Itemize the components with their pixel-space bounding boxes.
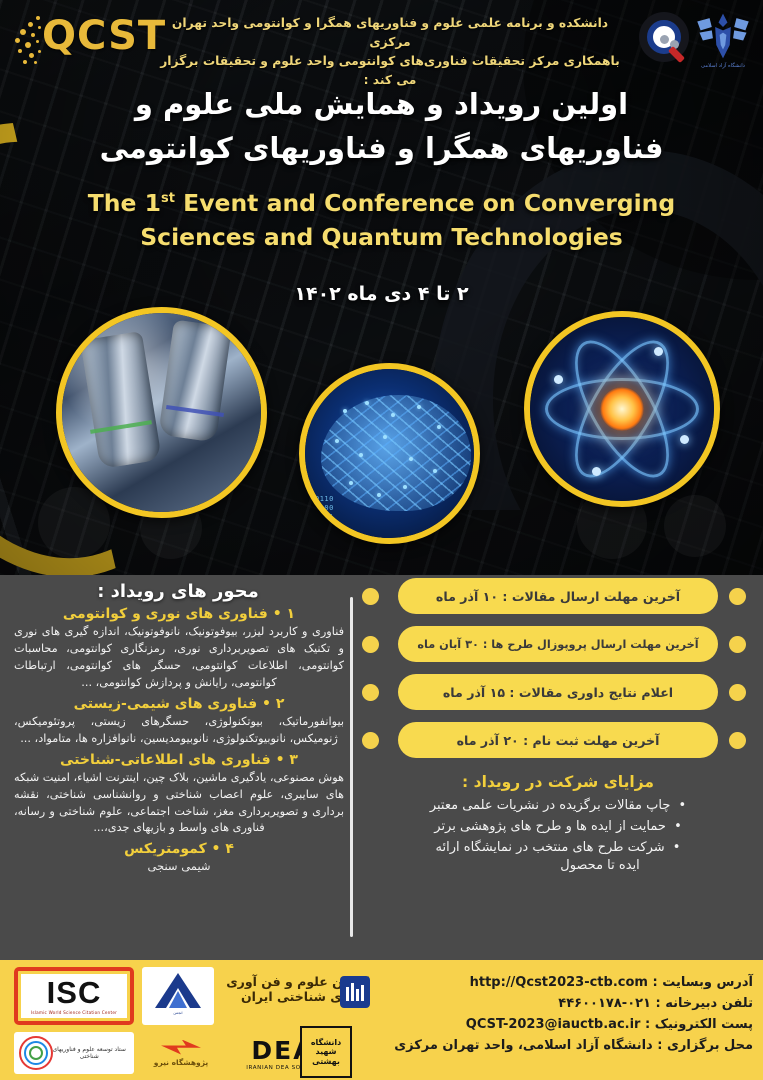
organizer-line-1: دانشکده و برنامه علمی علوم و فناوریهای ه… bbox=[150, 14, 630, 52]
electron bbox=[654, 347, 663, 356]
sponsor-niroo-logo: پژوهشگاه نیرو bbox=[142, 1030, 220, 1076]
benefit-text: چاپ مقالات برگزیده در نشریات علمی معتبر bbox=[430, 798, 671, 813]
english-title-line-2: Sciences and Quantum Technologies bbox=[0, 220, 763, 254]
lightning-bolt-icon bbox=[161, 1040, 201, 1055]
bullet-icon: • bbox=[673, 840, 681, 855]
topic-bullet: • bbox=[276, 752, 285, 768]
topic-number: ۳ bbox=[289, 752, 298, 768]
venue-value: دانشگاه آزاد اسلامی، واحد تهران مرکزی bbox=[394, 1038, 653, 1053]
topics-column: محور های رویداد : ۱ • فناوری های نوری و … bbox=[8, 575, 348, 877]
atom-image bbox=[524, 311, 720, 507]
deadline-dot bbox=[362, 732, 379, 749]
benefit-item: • شرکت طرح های منتخب در نمایشگاه ارائه bbox=[358, 837, 758, 858]
atom-nucleus bbox=[600, 387, 644, 431]
english-title-prefix: The 1 bbox=[88, 189, 161, 217]
azad-university-logo: دانشگاه آزاد اسلامی bbox=[695, 10, 751, 76]
column-divider bbox=[350, 597, 353, 937]
circuit-brain-image: 0110010010011001 bbox=[299, 363, 480, 544]
triangle-icon bbox=[153, 971, 203, 1011]
bullet-icon: • bbox=[674, 819, 682, 834]
electron bbox=[680, 435, 689, 444]
phone-value: ۰۲۱-۴۴۶۰۰۱۷۸ bbox=[558, 996, 651, 1011]
benefit-text: حمایت از ایده ها و طرح های پژوهشی برتر bbox=[434, 819, 666, 834]
topic-title: ۴ • کمومتریکس bbox=[14, 841, 344, 857]
topic-item: ۲ • فناوری های شیمی-زیستی بیوانفورماتیک،… bbox=[14, 696, 344, 748]
email-label: پست الکترونیک : bbox=[645, 1017, 753, 1032]
topic-item: ۳ • فناوری های اطلاعاتی-شناختی هوش مصنوع… bbox=[14, 752, 344, 838]
topic-number: ۴ bbox=[225, 841, 234, 857]
topic-body: فناوری و کاربرد لیزر، بیوفوتونیک، نانوفو… bbox=[14, 624, 344, 692]
event-date: ۲ تا ۴ دی ماه ۱۴۰۲ bbox=[0, 283, 763, 305]
gear-icon bbox=[670, 40, 679, 49]
niroo-caption: پژوهشگاه نیرو bbox=[154, 1058, 208, 1067]
topic-label: فناوری های شیمی-زیستی bbox=[74, 696, 258, 712]
contact-venue-row: محل برگزاری : دانشگاه آزاد اسلامی، واحد … bbox=[353, 1035, 753, 1056]
ghost-circle bbox=[664, 495, 726, 557]
venue-label: محل برگزاری : bbox=[657, 1038, 753, 1053]
benefit-text: شرکت طرح های منتخب در نمایشگاه ارائه bbox=[436, 840, 665, 855]
topic-bullet: • bbox=[273, 606, 282, 622]
deadline-pill[interactable]: آخرین مهلت ارسال مقالات : ۱۰ آذر ماه bbox=[398, 578, 718, 614]
persian-title-line-2: فناوریهای همگرا و فناوریهای کوانتومی bbox=[0, 126, 763, 170]
topic-body: شیمی سنجی bbox=[14, 859, 344, 873]
sponsor-triangle-logo: انجمن bbox=[142, 967, 214, 1025]
website-label: آدرس وبسایت : bbox=[652, 975, 753, 990]
english-title: The 1st Event and Conference on Convergi… bbox=[0, 186, 763, 254]
isc-caption: Islamic World Science Citation Center bbox=[31, 1010, 117, 1015]
atom-photo bbox=[530, 317, 714, 501]
contact-website-row: آدرس وبسایت : http://Qcst2023-ctb.com bbox=[353, 972, 753, 993]
topic-item: ۱ • فناوری های نوری و کوانتومی فناوری و … bbox=[14, 606, 344, 692]
deadline-dot bbox=[362, 588, 379, 605]
microscope-photo bbox=[62, 313, 261, 512]
topic-title: ۱ • فناوری های نوری و کوانتومی bbox=[14, 606, 344, 622]
q-ring-icon bbox=[647, 20, 681, 54]
deadline-dot bbox=[729, 588, 746, 605]
topic-label: کمومتریکس bbox=[124, 841, 207, 857]
cognitive-hq-caption: ستاد توسعه علوم و فناوریهای شناختی bbox=[49, 1046, 129, 1061]
topic-body: بیوانفورماتیک، بیوتکنولوژی، حسگرهای زیست… bbox=[14, 714, 344, 748]
objective-lens bbox=[158, 320, 232, 443]
qcst-logo-text: QCST bbox=[42, 16, 166, 56]
deadline-pill[interactable]: آخرین مهلت ثبت نام : ۲۰ آذر ماه bbox=[398, 722, 718, 758]
persian-title: اولین رویداد و همایش ملی علوم و فناوریها… bbox=[0, 82, 763, 170]
sponsor-sbu-logo: دانشگاه شهید بهشتی bbox=[300, 1026, 352, 1078]
deadline-dot bbox=[729, 732, 746, 749]
deadline-dot bbox=[362, 636, 379, 653]
quantum-research-center-logo bbox=[639, 12, 689, 62]
microscope-image bbox=[56, 307, 267, 518]
ordinal-suffix: st bbox=[161, 191, 175, 206]
phone-label: تلفن دبیرخانه : bbox=[656, 996, 753, 1011]
content-section: محور های رویداد : ۱ • فناوری های نوری و … bbox=[0, 575, 763, 960]
topic-body: هوش مصنوعی، یادگیری ماشین، بلاک چین، این… bbox=[14, 770, 344, 838]
benefit-item: • حمایت از ایده ها و طرح های پژوهشی برتر bbox=[358, 816, 758, 837]
deadlines-column: آخرین مهلت ارسال مقالات : ۱۰ آذر ماه آخر… bbox=[358, 575, 758, 873]
bullet-icon: • bbox=[679, 798, 687, 813]
gear-icon bbox=[660, 35, 669, 44]
rings-icon bbox=[19, 1036, 49, 1070]
footer-bar: ISC Islamic World Science Citation Cente… bbox=[0, 960, 763, 1080]
sponsor-isc-logo: ISC Islamic World Science Citation Cente… bbox=[14, 967, 134, 1025]
deadline-dot bbox=[729, 636, 746, 653]
deadline-row: آخرین مهلت ثبت نام : ۲۰ آذر ماه bbox=[358, 719, 758, 761]
benefit-item: • چاپ مقالات برگزیده در نشریات علمی معتب… bbox=[358, 795, 758, 816]
topic-number: ۲ bbox=[276, 696, 285, 712]
contact-info: آدرس وبسایت : http://Qcst2023-ctb.com تل… bbox=[353, 972, 753, 1056]
benefits-heading: مزایای شرکت در رویداد : bbox=[358, 773, 758, 791]
deadline-row: آخرین مهلت ارسال پروپوزال طرح ها : ۳۰ آب… bbox=[358, 623, 758, 665]
topic-title: ۲ • فناوری های شیمی-زیستی bbox=[14, 696, 344, 712]
website-value[interactable]: http://Qcst2023-ctb.com bbox=[470, 975, 648, 990]
topic-label: فناوری های اطلاعاتی-شناختی bbox=[60, 752, 271, 768]
deadline-dot bbox=[729, 684, 746, 701]
top-bar: QCST دانشکده و برنامه علمی علوم و فناوری… bbox=[0, 0, 763, 88]
sponsor-cognitive-hq-logo: ستاد توسعه علوم و فناوریهای شناختی bbox=[14, 1032, 134, 1074]
qcst-logo: QCST bbox=[14, 10, 144, 72]
deadline-dot bbox=[362, 684, 379, 701]
topic-bullet: • bbox=[262, 696, 271, 712]
deadline-row: آخرین مهلت ارسال مقالات : ۱۰ آذر ماه bbox=[358, 575, 758, 617]
azad-logo-caption: دانشگاه آزاد اسلامی bbox=[695, 63, 751, 69]
topic-bullet: • bbox=[212, 841, 221, 857]
contact-phone-row: تلفن دبیرخانه : ۰۲۱-۴۴۶۰۰۱۷۸ bbox=[353, 993, 753, 1014]
binary-code-text: 0110010010011001 bbox=[315, 495, 334, 530]
english-title-line-1: The 1st Event and Conference on Convergi… bbox=[0, 186, 763, 220]
topic-title: ۳ • فناوری های اطلاعاتی-شناختی bbox=[14, 752, 344, 768]
deadline-row: اعلام نتایج داوری مقالات : ۱۵ آذر ماه bbox=[358, 671, 758, 713]
triangle-logo-caption: انجمن bbox=[173, 1011, 182, 1015]
organizer-text: دانشکده و برنامه علمی علوم و فناوریهای ه… bbox=[150, 14, 630, 90]
email-value[interactable]: QCST-2023@iauctb.ac.ir bbox=[466, 1017, 641, 1032]
azad-wings-icon bbox=[695, 10, 751, 62]
electron bbox=[592, 467, 601, 476]
electron bbox=[554, 375, 563, 384]
topic-label: فناوری های نوری و کوانتومی bbox=[63, 606, 268, 622]
objective-lens bbox=[80, 331, 162, 469]
deadline-pill[interactable]: اعلام نتایج داوری مقالات : ۱۵ آذر ماه bbox=[398, 674, 718, 710]
topic-item: ۴ • کمومتریکس شیمی سنجی bbox=[14, 841, 344, 873]
isc-text: ISC bbox=[47, 977, 102, 1008]
deadline-pill[interactable]: آخرین مهلت ارسال پروپوزال طرح ها : ۳۰ آب… bbox=[398, 626, 718, 662]
contact-email-row: پست الکترونیک : QCST-2023@iauctb.ac.ir bbox=[353, 1014, 753, 1035]
circuit-brain-photo: 0110010010011001 bbox=[305, 369, 474, 538]
benefit-continuation: ایده تا محصول bbox=[358, 858, 758, 873]
english-title-rest: Event and Conference on Converging bbox=[183, 189, 675, 217]
topics-heading: محور های رویداد : bbox=[8, 575, 348, 606]
topic-number: ۱ bbox=[287, 606, 296, 622]
persian-title-line-1: اولین رویداد و همایش ملی علوم و bbox=[0, 82, 763, 126]
